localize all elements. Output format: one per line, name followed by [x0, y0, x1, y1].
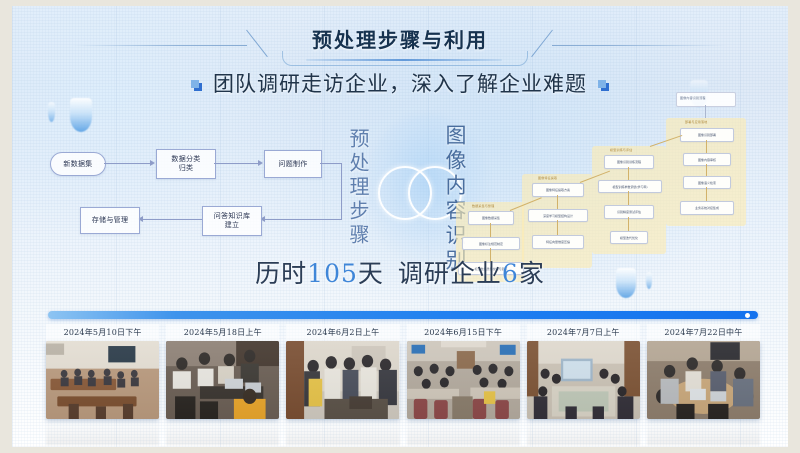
timeline-date: 2024年7月7日上午 [527, 324, 640, 341]
timeline-card[interactable]: 2024年5月10日下午 [46, 324, 159, 419]
mindmap-connector [490, 223, 491, 237]
mindmap-node: 图像特征提取方案 [532, 183, 584, 197]
stat-mid-label: 调研企业 [398, 259, 502, 288]
timeline-date: 2024年5月10日下午 [46, 324, 159, 341]
mindmap-connector [706, 164, 707, 176]
droplet-decoration [48, 102, 55, 122]
mindmap-node: 模型迭代优化 [610, 231, 648, 244]
flow-node-qa-knowledge-base: 问答知识库 建立 [202, 206, 262, 236]
mindmap-connector [706, 140, 707, 153]
mindmap-node: 识别精度测试评估 [604, 205, 654, 219]
title-underline [306, 59, 502, 61]
timeline-date: 2024年7月22日中午 [647, 324, 760, 341]
mindmap-node: 图像识别训练流程 [604, 155, 654, 169]
timeline-date: 2024年6月15日下午 [407, 324, 520, 341]
timeline-date: 2024年5月18日上午 [166, 324, 279, 341]
stat-days-unit: 天 [358, 259, 384, 288]
mindmap-connector [706, 187, 707, 201]
mindmap-connector [705, 105, 706, 118]
flow-connector [104, 163, 150, 164]
mindmap-group-label: 模型训练与评估 [610, 148, 632, 152]
mindmap-group-label: 图像特征提取 [538, 176, 557, 180]
flow-connector [214, 163, 258, 164]
mindmap-node: 业务系统对接集成 [680, 201, 734, 215]
mindmap-node: 模型训练参数调优(学习率) [598, 180, 662, 193]
mindmap-root-label: 图像内容识别流程 [680, 96, 706, 100]
flow-node-storage-management: 存储与管理 [80, 207, 140, 234]
flow-node-classify: 数据分类 归类 [156, 149, 216, 179]
presentation-slide: 预处理步骤与利用 团队调研走访企业，深入了解企业难题 预处理步骤 图像内容识别 … [12, 6, 788, 447]
flow-node-question-making: 问题制作 [264, 150, 322, 178]
timeline-photo-strip: 2024年5月10日下午 [46, 324, 760, 419]
square-bullet-icon [191, 80, 202, 91]
flow-arrow [150, 160, 155, 166]
mindmap-node: 图像数据采集 [468, 211, 514, 225]
flow-connector [264, 219, 342, 220]
timeline-card[interactable]: 2024年7月7日上午 [527, 324, 640, 419]
mindmap-connector [628, 191, 629, 205]
timeline-end-dot [745, 313, 750, 318]
preprocessing-flowchart: 新数据集 数据分类 归类 问题制作 问答知识库 建立 存储与管理 [42, 134, 342, 254]
timeline-card[interactable]: 2024年6月15日下午 [407, 324, 520, 419]
vertical-caption-left: 预处理步骤 [344, 128, 373, 248]
photo-reflection [46, 419, 760, 445]
image-recognition-mindmap: 图像内容识别流程 部署与应用落地 图像识别部署 图像内容审核 图像语义检索 业务… [482, 90, 788, 270]
mindmap-connector [628, 167, 629, 180]
flow-node-new-dataset: 新数据集 [50, 152, 106, 176]
mindmap-node: 特征向量维度压缩 [532, 235, 584, 249]
stat-companies-number: 6 [502, 259, 519, 288]
timeline-card[interactable]: 2024年7月22日中午 [647, 324, 760, 419]
visit-photo[interactable] [46, 341, 159, 419]
visit-photo[interactable] [647, 341, 760, 419]
visit-photo[interactable] [407, 341, 520, 419]
mindmap-node: 图像语义检索 [683, 176, 731, 189]
stat-days-number: 105 [307, 259, 358, 288]
timeline-progress[interactable] [48, 311, 758, 319]
visit-photo[interactable] [166, 341, 279, 419]
slide-title-bar: 预处理步骤与利用 [12, 18, 788, 58]
mindmap-node: 深度学习模型结构设计 [528, 209, 588, 222]
timeline-card[interactable]: 2024年5月18日上午 [166, 324, 279, 419]
mindmap-connector [628, 217, 629, 231]
mindmap-group-label: 部署与应用落地 [685, 120, 707, 124]
timeline-bar [48, 311, 758, 319]
mindmap-connector [557, 220, 558, 235]
mindmap-node: 图像识别部署 [680, 128, 734, 142]
page-title: 预处理步骤与利用 [12, 24, 788, 53]
survey-statistics: 历时105天调研企业6家 [12, 254, 788, 290]
mindmap-connector [557, 195, 558, 209]
visit-photo[interactable] [286, 341, 399, 419]
stat-prefix: 历时 [255, 259, 307, 288]
flow-connector [142, 219, 202, 220]
mindmap-node: 图像内容审核 [683, 153, 731, 166]
flow-connector [341, 163, 342, 219]
stat-companies-unit: 家 [519, 259, 545, 288]
visit-photo[interactable] [527, 341, 640, 419]
flow-connector [320, 163, 342, 164]
flow-arrow [258, 160, 263, 166]
mindmap-group-label: 数据采集与整理 [472, 204, 494, 208]
mindmap-node: 图像标注规范制定 [462, 237, 520, 250]
timeline-date: 2024年6月2日上午 [286, 324, 399, 341]
droplet-decoration [70, 98, 92, 132]
timeline-card[interactable]: 2024年6月2日上午 [286, 324, 399, 419]
